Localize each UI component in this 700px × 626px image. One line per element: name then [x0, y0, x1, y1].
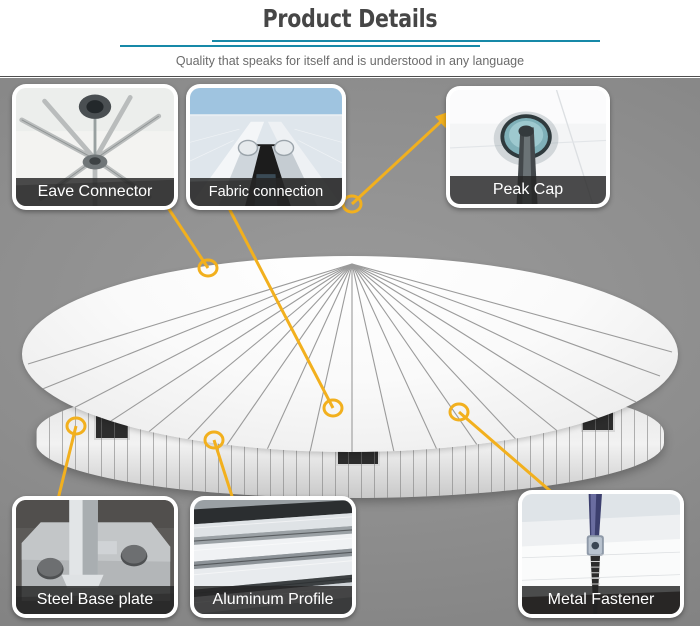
product-image-stage: SHELTER	[0, 78, 700, 626]
steel-base-plate-label: Steel Base plate	[16, 586, 174, 614]
page-subtitle: Quality that speaks for itself and is un…	[0, 54, 700, 68]
tent-roof-ribs	[22, 256, 678, 452]
peak-cap-label: Peak Cap	[450, 176, 606, 204]
fabric-connection-label: Fabric connection	[190, 178, 342, 206]
header-divider	[0, 76, 700, 77]
title-underline-bottom	[120, 45, 480, 47]
callout-steel-base-plate[interactable]: Steel Base plate	[12, 496, 178, 618]
callout-aluminum-profile[interactable]: Aluminum Profile	[190, 496, 356, 618]
metal-fastener-label: Metal Fastener	[522, 586, 680, 614]
callout-eave-connector[interactable]: Eave Connector	[12, 84, 178, 210]
title-underline-top	[212, 40, 600, 42]
tent-roof	[22, 256, 678, 452]
eave-connector-label: Eave Connector	[16, 178, 174, 206]
callout-fabric-connection[interactable]: Fabric connection	[186, 84, 346, 210]
callout-peak-cap[interactable]: Peak Cap	[446, 86, 610, 208]
page-header: Product Details Quality that speaks for …	[0, 0, 700, 78]
product-details-page: Product Details Quality that speaks for …	[0, 0, 700, 626]
arrow-to-peak-cap	[352, 116, 447, 204]
tent-illustration	[22, 198, 678, 510]
aluminum-profile-label: Aluminum Profile	[194, 586, 352, 614]
callout-metal-fastener[interactable]: Metal Fastener	[518, 490, 684, 618]
page-title: Product Details	[63, 4, 637, 33]
